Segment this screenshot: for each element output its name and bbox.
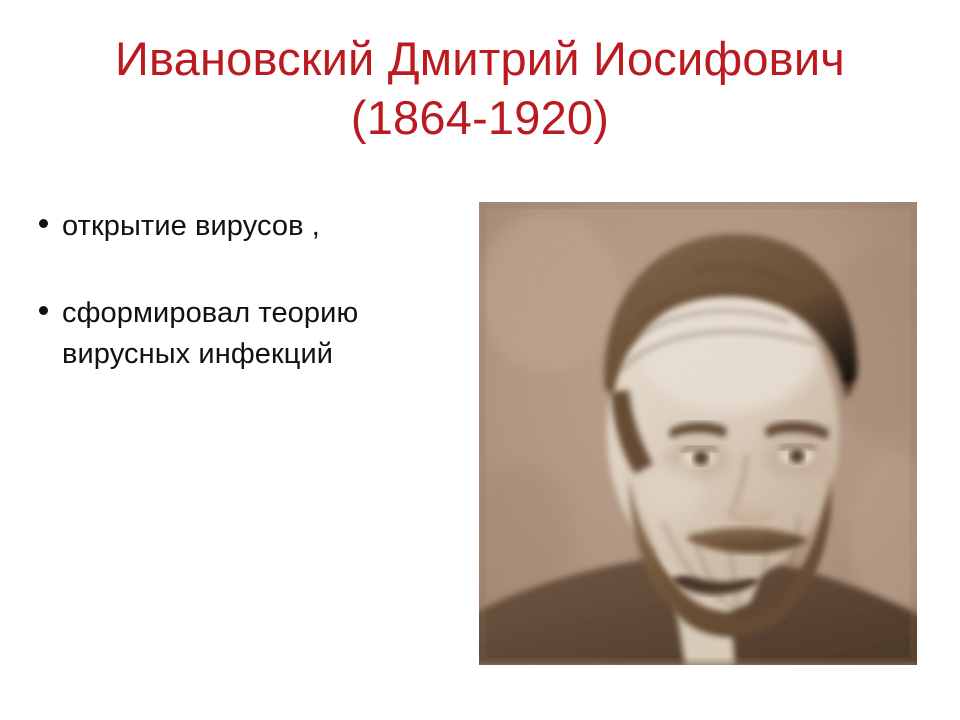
title-line-name: Ивановский Дмитрий Иосифович (0, 34, 960, 85)
slide: Ивановский Дмитрий Иосифович (1864-1920)… (0, 0, 960, 720)
list-item: открытие вирусов , (28, 206, 458, 247)
portrait-photo (479, 202, 917, 665)
list-item-label: открытие вирусов , (62, 206, 458, 247)
page-title: Ивановский Дмитрий Иосифович (1864-1920) (0, 34, 960, 144)
title-line-dates: (1864-1920) (0, 93, 960, 144)
list-item-label: сформировал теорию вирусных инфекций (62, 293, 458, 375)
list-item: сформировал теорию вирусных инфекций (28, 293, 458, 375)
bullet-dot-icon (28, 293, 62, 315)
bullet-list: открытие вирусов , сформировал теорию ви… (28, 206, 458, 422)
bullet-dot-icon (28, 206, 62, 228)
portrait-photo-image (479, 202, 917, 665)
